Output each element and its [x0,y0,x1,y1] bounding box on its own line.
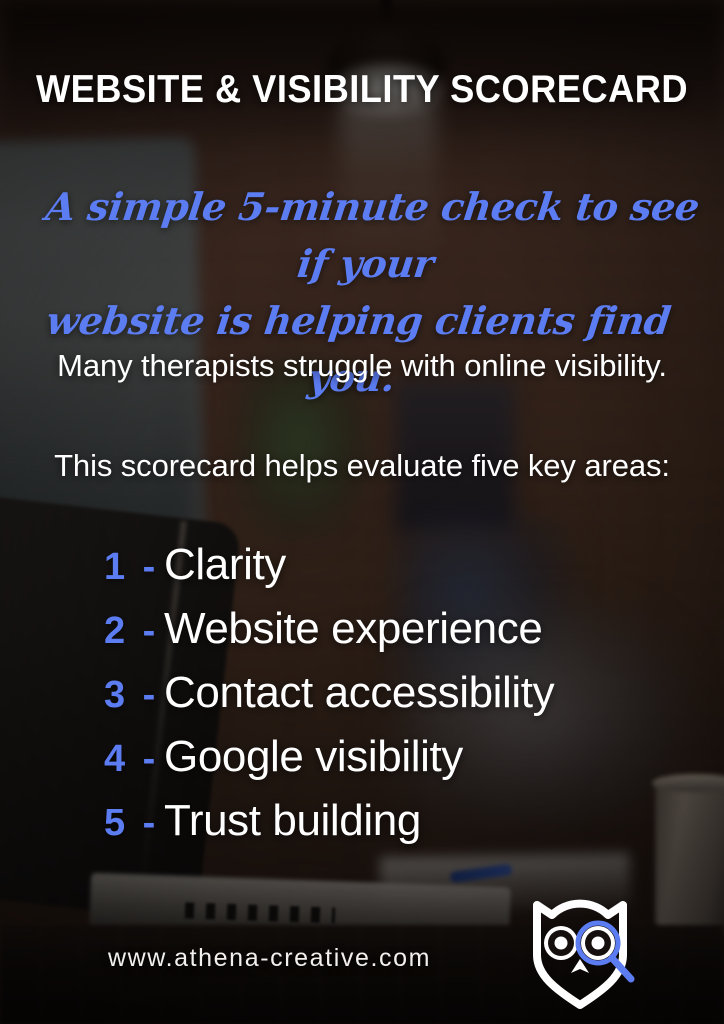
subtitle-script-line-1: A simple 5-minute check to see if your [30,178,708,292]
list-item-dash: - [134,546,164,589]
list-item-number: 4 [104,738,134,781]
owl-left-pupil [555,937,568,950]
owl-right-pupil [592,937,605,950]
list-item: 2 - Website experience [104,604,620,668]
list-item-label: Website experience [164,604,542,654]
list-item: 1 - Clarity [104,540,620,604]
list-item-number: 1 [104,546,134,589]
key-areas-list: 1 - Clarity 2 - Website experience 3 - C… [0,540,724,860]
list-item-label: Contact accessibility [164,668,554,718]
intro-paragraph-1: Many therapists struggle with online vis… [0,348,724,384]
list-item: 3 - Contact accessibility [104,668,620,732]
list-item-label: Google visibility [164,732,463,782]
list-item-label: Trust building [164,796,421,846]
page-title: WEBSITE & VISIBILITY SCORECARD [25,68,698,112]
website-url: www.athena-creative.com [108,944,431,973]
list-item-dash: - [134,738,164,781]
list-item-label: Clarity [164,540,286,590]
list-item-dash: - [134,802,164,845]
list-item-dash: - [134,674,164,717]
list-item-number: 3 [104,674,134,717]
list-item: 4 - Google visibility [104,732,620,796]
list-item-number: 5 [104,802,134,845]
scorecard-poster: WEBSITE & VISIBILITY SCORECARD A simple … [0,0,724,1024]
list-item: 5 - Trust building [104,796,620,860]
owl-magnifier-logo [519,893,641,1011]
intro-paragraph-2: This scorecard helps evaluate five key a… [0,448,724,484]
list-item-dash: - [134,610,164,653]
list-item-number: 2 [104,610,134,653]
